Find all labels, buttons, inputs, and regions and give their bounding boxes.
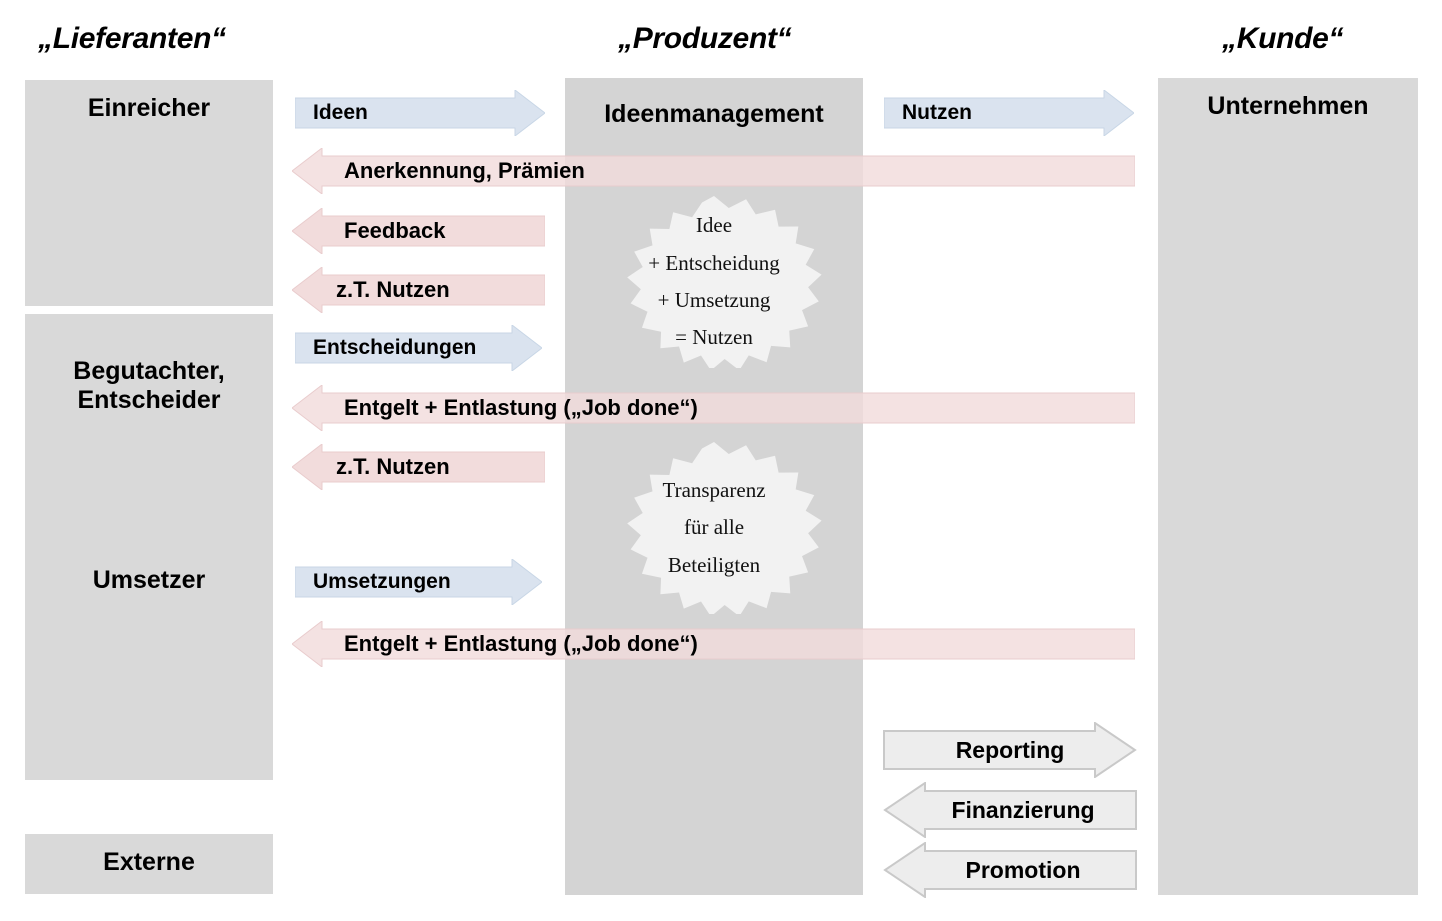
flow-label: Entgelt + Entlastung („Job done“) — [344, 631, 698, 657]
gray-flow-label: Promotion — [966, 857, 1081, 884]
flow-label: z.T. Nutzen — [336, 277, 450, 303]
role-label: Einreicher — [88, 94, 210, 122]
gray-flow-label: Finanzierung — [951, 797, 1094, 824]
gray-flow-reporting[interactable]: Reporting — [883, 722, 1137, 778]
role-box-umsetzer[interactable]: Umsetzer — [25, 552, 273, 780]
burst-line: = Nutzen — [675, 319, 753, 356]
producer-column-label: Ideenmanagement — [565, 100, 863, 129]
flow-arrow-anerkennung-praemien[interactable]: Anerkennung, Prämien — [292, 148, 1135, 194]
role-label: Umsetzer — [93, 566, 206, 594]
flow-arrow-entgelt-entlastung-2[interactable]: Entgelt + Entlastung („Job done“) — [292, 621, 1135, 667]
gray-flow-promotion[interactable]: Promotion — [883, 842, 1137, 898]
flow-arrow-entscheidungen[interactable]: Entscheidungen — [295, 325, 542, 371]
flow-label: z.T. Nutzen — [336, 454, 450, 480]
flow-label: Umsetzungen — [313, 570, 451, 594]
flow-arrow-ideen[interactable]: Ideen — [295, 90, 545, 136]
role-box-begutachter-entscheider[interactable]: Begutachter, Entscheider — [25, 314, 273, 580]
column-title-lieferanten: „Lieferanten“ — [38, 22, 226, 56]
flow-arrow-nutzen[interactable]: Nutzen — [884, 90, 1134, 136]
role-label: Begutachter, Entscheider — [73, 357, 224, 414]
customer-box-unternehmen[interactable]: Unternehmen — [1158, 78, 1418, 895]
role-label: Externe — [103, 848, 195, 876]
diagram-canvas: „Lieferanten“ „Produzent“ „Kunde“ Ideenm… — [0, 0, 1442, 921]
flow-label: Anerkennung, Prämien — [344, 158, 585, 184]
flow-label: Feedback — [344, 218, 446, 244]
role-box-externe[interactable]: Externe — [25, 834, 273, 894]
flow-arrow-zt-nutzen-2[interactable]: z.T. Nutzen — [292, 444, 545, 490]
flow-arrow-zt-nutzen-1[interactable]: z.T. Nutzen — [292, 267, 545, 313]
column-title-produzent: „Produzent“ — [618, 22, 791, 56]
flow-label: Entgelt + Entlastung („Job done“) — [344, 395, 698, 421]
customer-label: Unternehmen — [1207, 92, 1368, 120]
flow-label: Nutzen — [902, 101, 972, 125]
burst-line: + Entscheidung — [648, 245, 779, 282]
starburst-idee-nutzen: Idee + Entscheidung + Umsetzung = Nutzen — [603, 196, 825, 368]
starburst-transparenz: Transparenz für alle Beteiligten — [603, 442, 825, 614]
flow-label: Ideen — [313, 101, 368, 125]
burst-line: + Umsetzung — [658, 282, 771, 319]
burst-line: Transparenz — [662, 472, 765, 509]
role-box-einreicher[interactable]: Einreicher — [25, 80, 273, 306]
gray-flow-finanzierung[interactable]: Finanzierung — [883, 782, 1137, 838]
flow-label: Entscheidungen — [313, 336, 476, 360]
flow-arrow-umsetzungen[interactable]: Umsetzungen — [295, 559, 542, 605]
flow-arrow-feedback[interactable]: Feedback — [292, 208, 545, 254]
flow-arrow-entgelt-entlastung-1[interactable]: Entgelt + Entlastung („Job done“) — [292, 385, 1135, 431]
burst-line: Beteiligten — [668, 547, 760, 584]
burst-line: Idee — [696, 207, 732, 244]
gray-flow-label: Reporting — [956, 737, 1065, 764]
column-title-kunde: „Kunde“ — [1222, 22, 1343, 56]
burst-line: für alle — [684, 509, 744, 546]
